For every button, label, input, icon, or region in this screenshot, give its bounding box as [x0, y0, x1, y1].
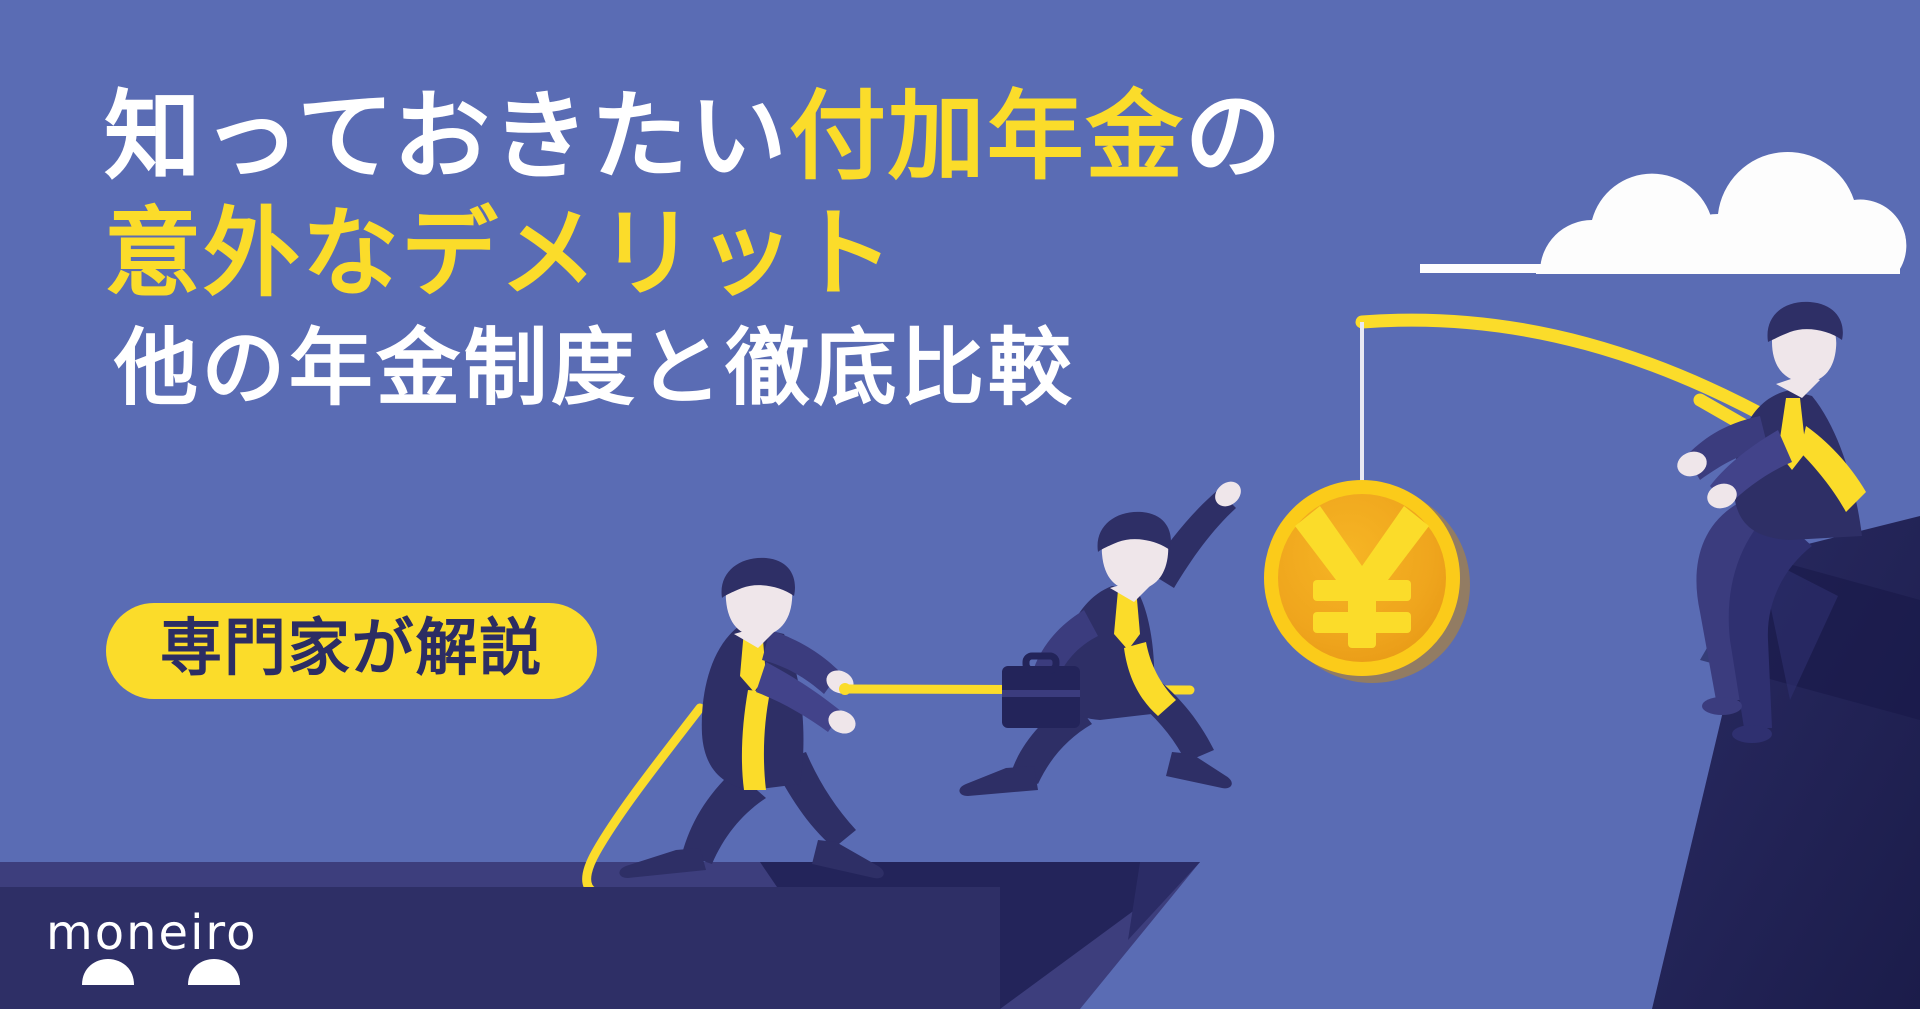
briefcase	[1002, 656, 1080, 728]
expert-badge: 専門家が解説	[106, 603, 597, 699]
moneiro-logo[interactable]: moneiro	[46, 903, 256, 987]
headline-line-2: 意外なデメリット	[104, 205, 1284, 302]
logo-dome-right	[188, 959, 240, 985]
hero-banner: 知っておきたい付加年金の 意外なデメリット 他の年金制度と徹底比較 専門家が解説…	[0, 0, 1920, 1009]
headline-line-3: 他の年金制度と徹底比較	[104, 326, 1284, 410]
headline-line1-part3: の	[1185, 80, 1284, 193]
headline-block: 知っておきたい付加年金の 意外なデメリット 他の年金制度と徹底比較	[104, 88, 1284, 410]
headline-line-1: 知っておきたい付加年金の	[104, 88, 1284, 185]
logo-wordmark: moneiro	[46, 905, 256, 961]
headline-line1-part1: 知っておきたい	[104, 80, 789, 193]
logo-dome-left	[82, 959, 134, 985]
headline-line1-highlight: 付加年金	[789, 80, 1185, 193]
logo-mark: moneiro	[46, 903, 256, 987]
